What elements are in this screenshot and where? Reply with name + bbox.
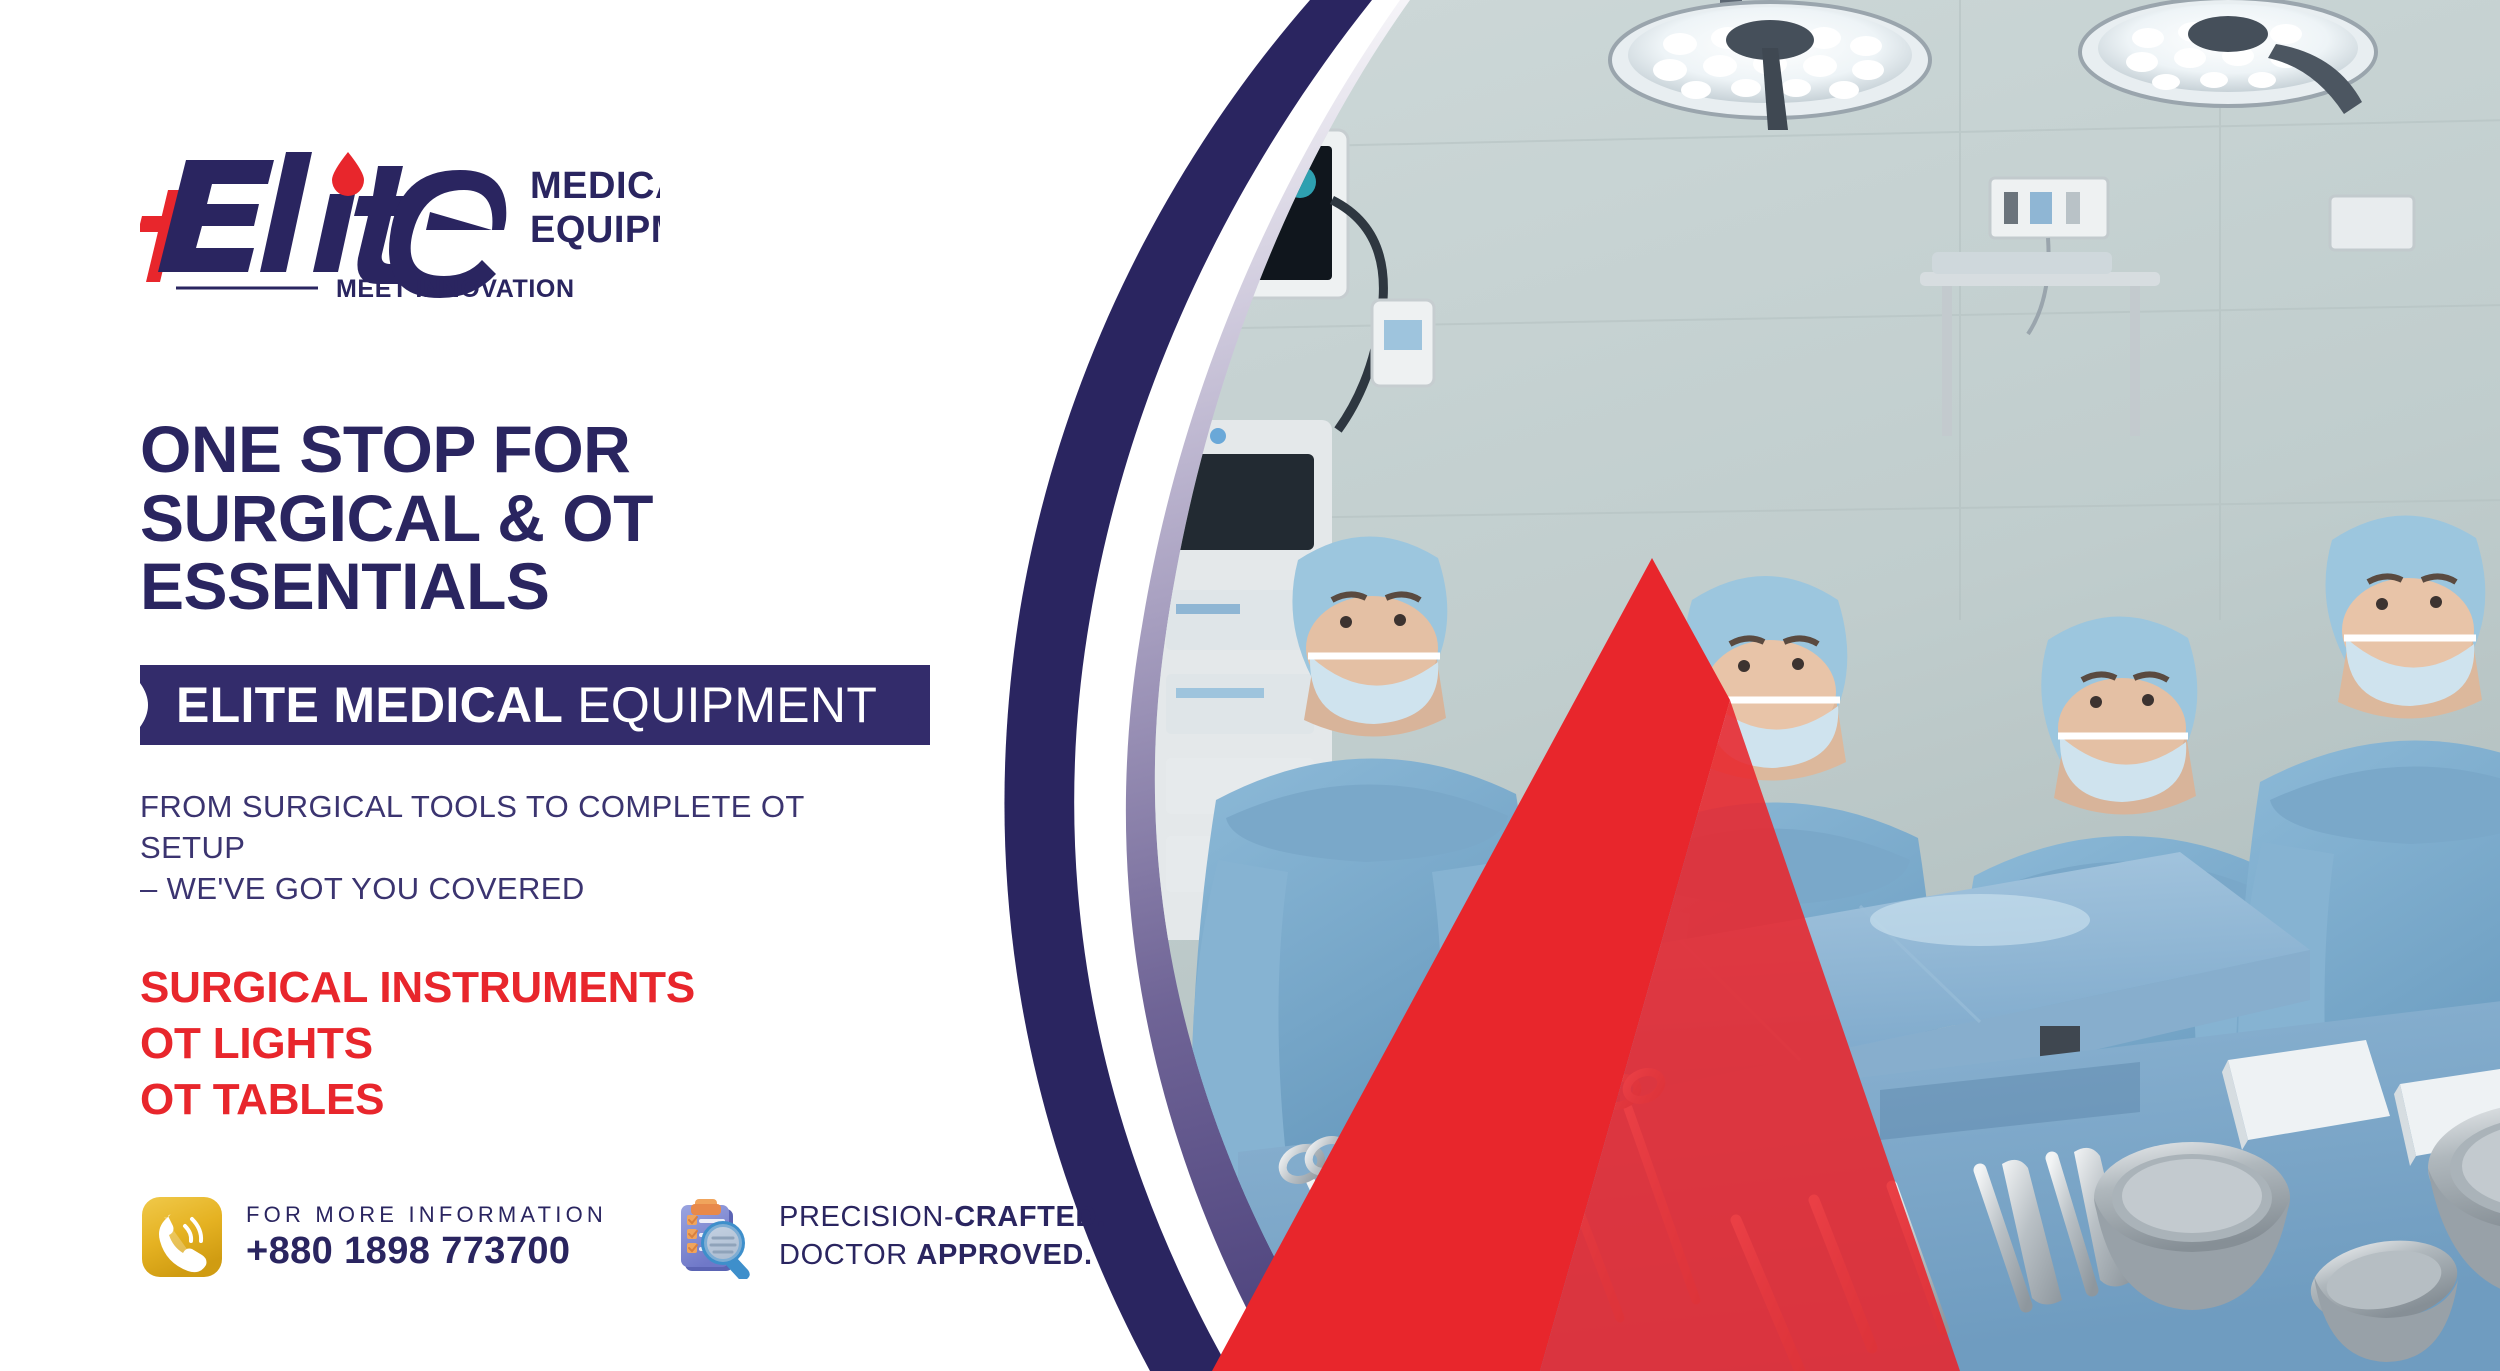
ribbon-label: ELITE MEDICAL EQUIPMENT <box>140 665 930 745</box>
ribbon-light-text: EQUIPMENT <box>577 676 877 734</box>
contact-number[interactable]: +880 1898 773700 <box>246 1230 607 1273</box>
headline-line-3: ESSENTIALS <box>140 552 800 621</box>
contact-label: FOR MORE INFORMATION <box>246 1201 607 1229</box>
content-column: MEDICAL EQUIPMENT MEET INNOVATION ONE ST… <box>0 0 1080 1371</box>
contact-badge[interactable]: FOR MORE INFORMATION +880 1898 773700 <box>140 1195 607 1279</box>
logo-letter-i <box>313 194 355 272</box>
contact-text: FOR MORE INFORMATION +880 1898 773700 <box>246 1201 607 1273</box>
tagline: FROM SURGICAL TOOLS TO COMPLETE OT SETUP… <box>140 787 860 910</box>
brand-ribbon: ELITE MEDICAL EQUIPMENT <box>140 665 930 745</box>
product-item: SURGICAL INSTRUMENTS <box>140 960 1080 1016</box>
logo-equipment-text: EQUIPMENT <box>530 209 660 251</box>
quality-line2-regular: DOCTOR <box>779 1239 916 1271</box>
product-item: OT LIGHTS <box>140 1016 1080 1072</box>
quality-line2-bold: APPROVED. <box>916 1239 1092 1271</box>
quality-line-2: DOCTOR APPROVED. <box>779 1237 1106 1275</box>
tagline-line-1: FROM SURGICAL TOOLS TO COMPLETE OT SETUP <box>140 787 860 869</box>
operating-theatre-artwork <box>980 0 2500 1371</box>
logo-svg: MEDICAL EQUIPMENT MEET INNOVATION <box>140 138 660 306</box>
tagline-line-2: – WE'VE GOT YOU COVERED <box>140 869 860 910</box>
page-title: ONE STOP FOR SURGICAL & OT ESSENTIALS <box>140 415 800 621</box>
logo-medical-text: MEDICAL <box>530 165 660 207</box>
quality-line1-bold: CRAFTED. <box>954 1201 1105 1233</box>
clipboard-magnifier-icon <box>673 1195 757 1279</box>
phone-handset-icon <box>140 1195 224 1279</box>
product-list: SURGICAL INSTRUMENTS OT LIGHTS OT TABLES <box>140 960 1080 1129</box>
quality-text: PRECISION-CRAFTED. DOCTOR APPROVED. <box>779 1199 1106 1274</box>
headline-line-2: SURGICAL & OT <box>140 484 800 553</box>
blood-droplet-icon <box>332 152 364 196</box>
quality-line-1: PRECISION-CRAFTED. <box>779 1199 1106 1237</box>
product-item: OT TABLES <box>140 1072 1080 1128</box>
logo-motto: MEET INNOVATION <box>336 275 575 303</box>
ribbon-bold-text: ELITE MEDICAL <box>176 676 563 734</box>
footer-badges: FOR MORE INFORMATION +880 1898 773700 <box>140 1195 1106 1279</box>
advertisement-banner: MEDICAL EQUIPMENT MEET INNOVATION ONE ST… <box>0 0 2500 1371</box>
quality-line1-regular: PRECISION- <box>779 1201 954 1233</box>
logo-letter-e <box>158 160 274 272</box>
quality-badge: PRECISION-CRAFTED. DOCTOR APPROVED. <box>673 1195 1106 1279</box>
company-logo: MEDICAL EQUIPMENT MEET INNOVATION <box>140 138 660 303</box>
artwork-svg <box>980 0 2500 1371</box>
headline-line-1: ONE STOP FOR <box>140 415 800 484</box>
